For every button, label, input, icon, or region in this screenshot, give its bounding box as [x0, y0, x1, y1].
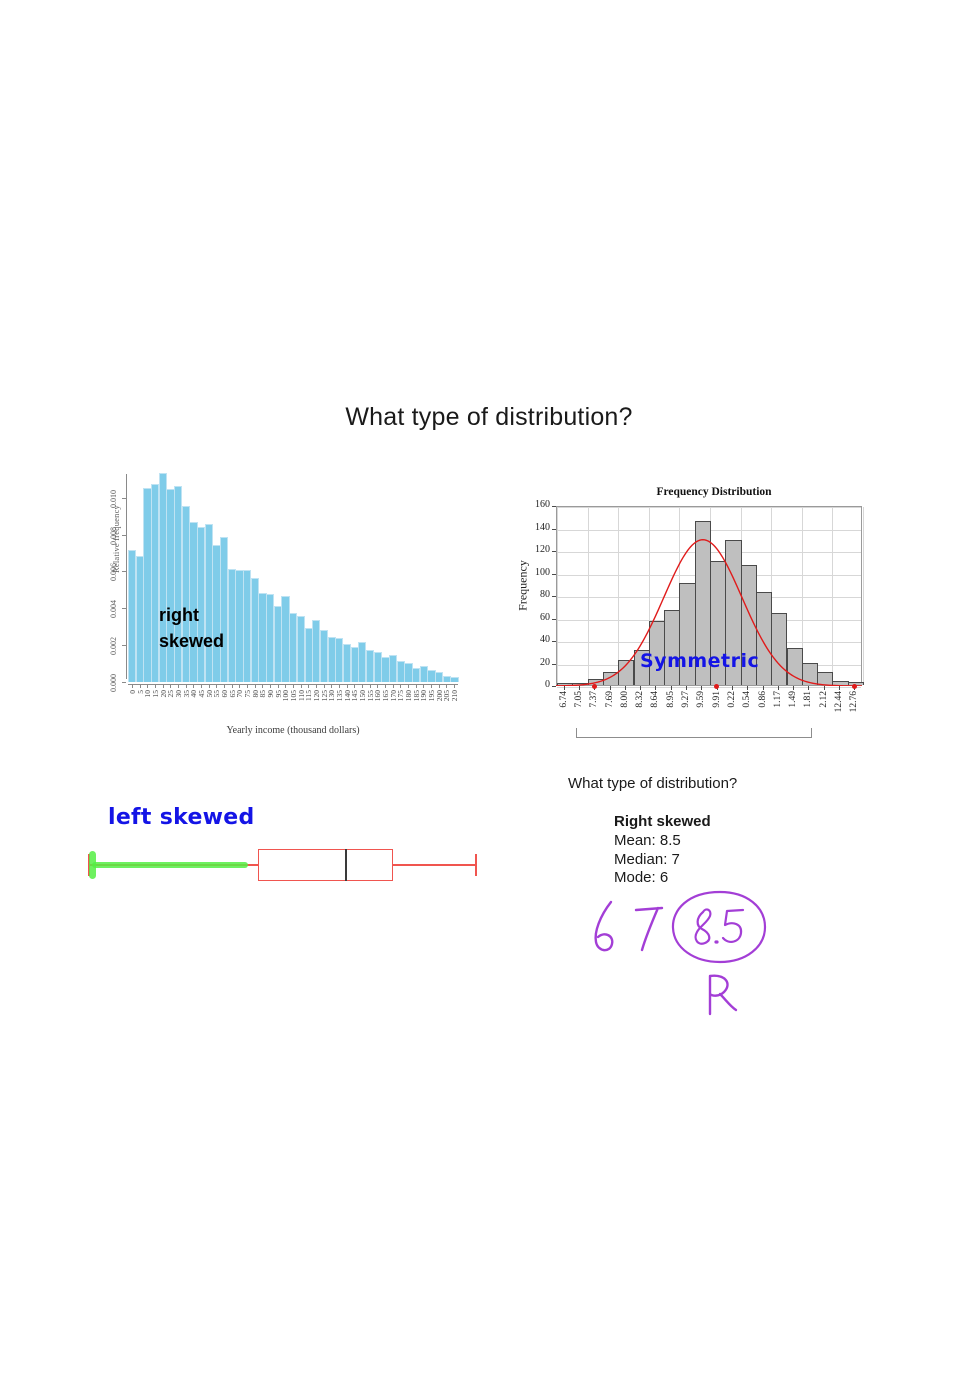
left-histogram-annotation-line1: right: [159, 602, 224, 628]
boxplot-median-line: [345, 849, 347, 881]
left-histogram-x-tick-mark: [216, 684, 217, 688]
left-histogram-x-tick-mark: [147, 684, 148, 688]
left-histogram-x-tick-mark: [132, 684, 133, 688]
frequency-distribution-y-tick-mark: [552, 664, 556, 665]
left-histogram-x-tick-mark: [278, 684, 279, 688]
frequency-distribution-marker-dot: [852, 684, 857, 689]
frequency-distribution-x-tick-label: 0.54: [742, 691, 752, 708]
left-histogram-y-tick-mark: [122, 535, 126, 536]
frequency-distribution-x-tick-label: 9.59: [696, 691, 706, 708]
left-histogram-x-tick-mark: [416, 684, 417, 688]
left-histogram-x-tick-label: 210: [450, 690, 459, 701]
left-histogram-x-tick-mark: [285, 684, 286, 688]
frequency-distribution-y-tick-label: 20: [520, 657, 550, 668]
left-histogram-x-tick-mark: [431, 684, 432, 688]
left-histogram-x-tick-mark: [446, 684, 447, 688]
frequency-distribution-x-tick-label: 8.64: [650, 691, 660, 708]
boxplot-annotation: left skewed: [108, 805, 255, 830]
handwritten-mode-6: [596, 902, 613, 950]
left-histogram-y-tick-label: 0.000: [109, 674, 118, 692]
left-histogram-x-tick-mark: [316, 684, 317, 688]
frequency-distribution-x-tick-label: 12.44: [834, 691, 844, 712]
frequency-distribution-x-tick-mark: [747, 686, 748, 690]
left-histogram-x-tick-mark: [270, 684, 271, 688]
left-histogram-x-tick-mark: [331, 684, 332, 688]
frequency-distribution-y-tick-label: 140: [520, 522, 550, 533]
left-histogram-x-tick-mark: [178, 684, 179, 688]
left-histogram-x-tick-mark: [170, 684, 171, 688]
handwritten-annotation: [560, 880, 860, 1030]
frequency-distribution-x-tick-mark: [625, 686, 626, 690]
left-histogram-x-tick-mark: [400, 684, 401, 688]
left-histogram-x-tick-mark: [224, 684, 225, 688]
slide-canvas: What type of distribution? Relative freq…: [0, 0, 978, 1384]
frequency-distribution-x-tick-label: 0.86: [758, 691, 768, 708]
frequency-distribution-y-tick-label: 120: [520, 544, 550, 555]
frequency-distribution-x-tick-mark: [610, 686, 611, 690]
left-histogram-x-tick-mark: [209, 684, 210, 688]
left-histogram-x-tick-mark: [393, 684, 394, 688]
left-histogram-y-ticks: 0.0000.0020.0040.0060.0080.010: [98, 470, 124, 682]
boxplot-highlight-whisker: [92, 862, 248, 868]
left-histogram-x-tick-mark: [354, 684, 355, 688]
frequency-distribution-x-tick-label: 7.69: [605, 691, 615, 708]
frequency-distribution-x-tick-mark: [839, 686, 840, 690]
secondary-page-title: What type of distribution?: [568, 775, 737, 792]
left-histogram-x-tick-mark: [293, 684, 294, 688]
frequency-distribution-gridline-v: [863, 507, 864, 685]
frequency-distribution-x-tick-label: 8.95: [666, 691, 676, 708]
left-histogram-y-tick-label: 0.004: [109, 600, 118, 618]
left-histogram-y-tick-mark: [122, 608, 126, 609]
boxplot-right-whisker: [393, 864, 475, 866]
frequency-distribution-x-tick-mark: [763, 686, 764, 690]
frequency-distribution-x-tick-mark: [808, 686, 809, 690]
frequency-distribution-x-tick-mark: [732, 686, 733, 690]
frequency-distribution-x-tick-label: 9.27: [681, 691, 691, 708]
left-histogram-y-tick-mark: [122, 571, 126, 572]
frequency-distribution-x-tick-label: 1.49: [788, 691, 798, 708]
handwritten-mean-5: [723, 910, 743, 942]
left-histogram-x-tick-mark: [408, 684, 409, 688]
frequency-distribution-bracket-label: [576, 732, 812, 740]
left-histogram-x-tick-mark: [439, 684, 440, 688]
frequency-distribution-y-tick-mark: [552, 619, 556, 620]
left-histogram-bar: [450, 677, 458, 682]
frequency-distribution-x-tick-label: 1.81: [803, 691, 813, 708]
left-histogram-x-tick-mark: [324, 684, 325, 688]
frequency-distribution-x-tick-mark: [701, 686, 702, 690]
boxplot-highlight-cap: [89, 851, 96, 879]
frequency-distribution-x-tick-mark: [564, 686, 565, 690]
handwritten-mean-8: [696, 909, 711, 943]
stats-heading: Right skewed: [614, 813, 711, 832]
left-histogram-x-tick-mark: [163, 684, 164, 688]
left-histogram-x-tick-mark: [301, 684, 302, 688]
left-histogram-x-tick-mark: [423, 684, 424, 688]
left-histogram-chart: Relative frequency 0.0000.0020.0040.0060…: [84, 462, 474, 737]
frequency-distribution-x-tick-label: 2.12: [819, 691, 829, 708]
frequency-distribution-y-tick-mark: [552, 641, 556, 642]
frequency-distribution-x-tick-mark: [640, 686, 641, 690]
frequency-distribution-y-tick-mark: [552, 574, 556, 575]
left-histogram-x-tick-mark: [377, 684, 378, 688]
left-histogram-x-tick-mark: [262, 684, 263, 688]
frequency-distribution-annotation: Symmetric: [640, 650, 759, 672]
frequency-distribution-y-tick-label: 0: [520, 679, 550, 690]
left-histogram-x-axis-label: Yearly income (thousand dollars): [128, 725, 458, 736]
left-histogram-x-tick-mark: [308, 684, 309, 688]
frequency-distribution-y-tick-label: 80: [520, 589, 550, 600]
left-histogram-x-tick-mark: [140, 684, 141, 688]
frequency-distribution-x-tick-mark: [824, 686, 825, 690]
frequency-distribution-x-tick-label: 8.32: [635, 691, 645, 708]
frequency-distribution-y-tick-label: 100: [520, 567, 550, 578]
frequency-distribution-x-tick-label: 12.76: [849, 691, 859, 712]
frequency-distribution-y-tick-label: 160: [520, 499, 550, 510]
frequency-distribution-x-tick-mark: [579, 686, 580, 690]
left-histogram-y-axis-line: [126, 474, 127, 679]
left-histogram-x-tick-mark: [155, 684, 156, 688]
left-histogram-x-tick-mark: [339, 684, 340, 688]
left-histogram-y-tick-label: 0.008: [109, 527, 118, 545]
stats-mean: Mean: 8.5: [614, 832, 711, 851]
frequency-distribution-y-tick-mark: [552, 529, 556, 530]
boxplot-box: [258, 849, 393, 881]
left-histogram-x-tick-mark: [239, 684, 240, 688]
stats-block: Right skewed Mean: 8.5 Median: 7 Mode: 6: [614, 813, 711, 888]
left-histogram-x-tick-mark: [362, 684, 363, 688]
left-histogram-y-tick-mark: [122, 645, 126, 646]
left-histogram-x-tick-mark: [247, 684, 248, 688]
left-histogram-annotation-line2: skewed: [159, 628, 224, 654]
handwritten-letter-R: [710, 976, 736, 1014]
frequency-distribution-x-tick-mark: [671, 686, 672, 690]
boxplot-canvas: [70, 843, 500, 898]
left-histogram-x-tick-mark: [186, 684, 187, 688]
frequency-distribution-chart: Frequency Distribution Frequency Symmetr…: [498, 486, 870, 748]
frequency-distribution-y-tick-mark: [552, 596, 556, 597]
left-histogram-x-tick-mark: [193, 684, 194, 688]
left-histogram-y-tick-mark: [122, 498, 126, 499]
frequency-distribution-x-tick-mark: [793, 686, 794, 690]
frequency-distribution-x-tick-label: 7.37: [589, 691, 599, 708]
left-histogram-y-tick-label: 0.006: [109, 563, 118, 581]
frequency-distribution-y-tick-mark: [552, 551, 556, 552]
frequency-distribution-marker-dot: [714, 684, 719, 689]
left-histogram-x-tick-mark: [385, 684, 386, 688]
left-histogram-x-tick-mark: [347, 684, 348, 688]
frequency-distribution-gridline-h: [557, 687, 861, 688]
left-histogram-x-tick-mark: [454, 684, 455, 688]
frequency-distribution-y-tick-label: 60: [520, 612, 550, 623]
handwritten-circle: [673, 892, 765, 962]
frequency-distribution-y-tick-label: 40: [520, 634, 550, 645]
boxplot-figure: left skewed: [70, 805, 500, 900]
page-title: What type of distribution?: [0, 403, 978, 432]
left-histogram-y-tick-label: 0.010: [109, 490, 118, 508]
frequency-distribution-title: Frequency Distribution: [558, 486, 870, 498]
left-histogram-x-tick-mark: [255, 684, 256, 688]
left-histogram-annotation: right skewed: [159, 602, 224, 654]
left-histogram-x-tick-mark: [370, 684, 371, 688]
left-histogram-x-tick-mark: [201, 684, 202, 688]
frequency-distribution-marker-dot: [592, 684, 597, 689]
left-histogram-x-tick-mark: [232, 684, 233, 688]
frequency-distribution-x-tick-label: 7.05: [574, 691, 584, 708]
boxplot-right-whisker-cap: [475, 854, 477, 876]
frequency-distribution-x-tick-mark: [686, 686, 687, 690]
left-histogram-y-tick-label: 0.002: [109, 637, 118, 655]
frequency-distribution-x-tick-label: 9.91: [712, 691, 722, 708]
frequency-distribution-x-tick-label: 1.17: [773, 691, 783, 708]
frequency-distribution-y-tick-mark: [552, 686, 556, 687]
frequency-distribution-y-tick-mark: [552, 506, 556, 507]
handwritten-median-7: [636, 908, 662, 950]
stats-median: Median: 7: [614, 851, 711, 870]
frequency-distribution-x-tick-label: 6.74: [559, 691, 569, 708]
frequency-distribution-x-tick-label: 0.22: [727, 691, 737, 708]
frequency-distribution-x-tick-mark: [778, 686, 779, 690]
frequency-distribution-x-tick-label: 8.00: [620, 691, 630, 708]
left-histogram-y-tick-mark: [122, 682, 126, 683]
frequency-distribution-x-tick-mark: [655, 686, 656, 690]
